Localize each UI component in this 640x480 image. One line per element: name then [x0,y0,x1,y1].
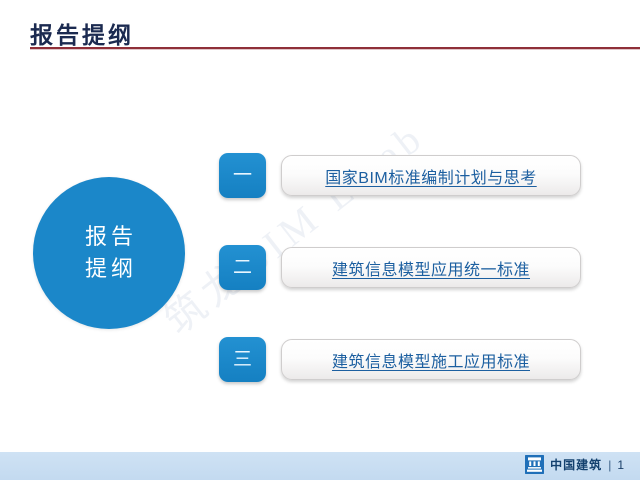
slide-canvas: 筑龙BIM Lweb 报告提纲 报告 提纲 一 国家BIM标准编制计划与思考 二… [0,0,640,480]
outline-list: 一 国家BIM标准编制计划与思考 二 建筑信息模型应用统一标准 三 建筑信息模型… [0,0,640,480]
outline-item-label-3[interactable]: 建筑信息模型施工应用标准 [332,348,530,372]
outline-numeral-badge-2[interactable]: 二 [219,245,266,290]
cscec-building-logo-icon [525,455,544,474]
outline-label-box-3[interactable]: 建筑信息模型施工应用标准 [281,339,581,380]
outline-item-label-2[interactable]: 建筑信息模型应用统一标准 [332,256,530,280]
footer-separator: | [608,458,611,472]
outline-numeral-badge-1[interactable]: 一 [219,153,266,198]
outline-item-label-1[interactable]: 国家BIM标准编制计划与思考 [325,164,536,188]
footer: 中国建筑 | 1 [525,455,624,474]
footer-page-number: 1 [617,458,624,472]
outline-item-3[interactable]: 三 建筑信息模型施工应用标准 [219,337,581,382]
outline-item-2[interactable]: 二 建筑信息模型应用统一标准 [219,245,581,290]
outline-label-box-2[interactable]: 建筑信息模型应用统一标准 [281,247,581,288]
footer-brand-label: 中国建筑 [550,456,602,473]
outline-item-1[interactable]: 一 国家BIM标准编制计划与思考 [219,153,581,198]
outline-label-box-1[interactable]: 国家BIM标准编制计划与思考 [281,155,581,196]
outline-numeral-badge-3[interactable]: 三 [219,337,266,382]
